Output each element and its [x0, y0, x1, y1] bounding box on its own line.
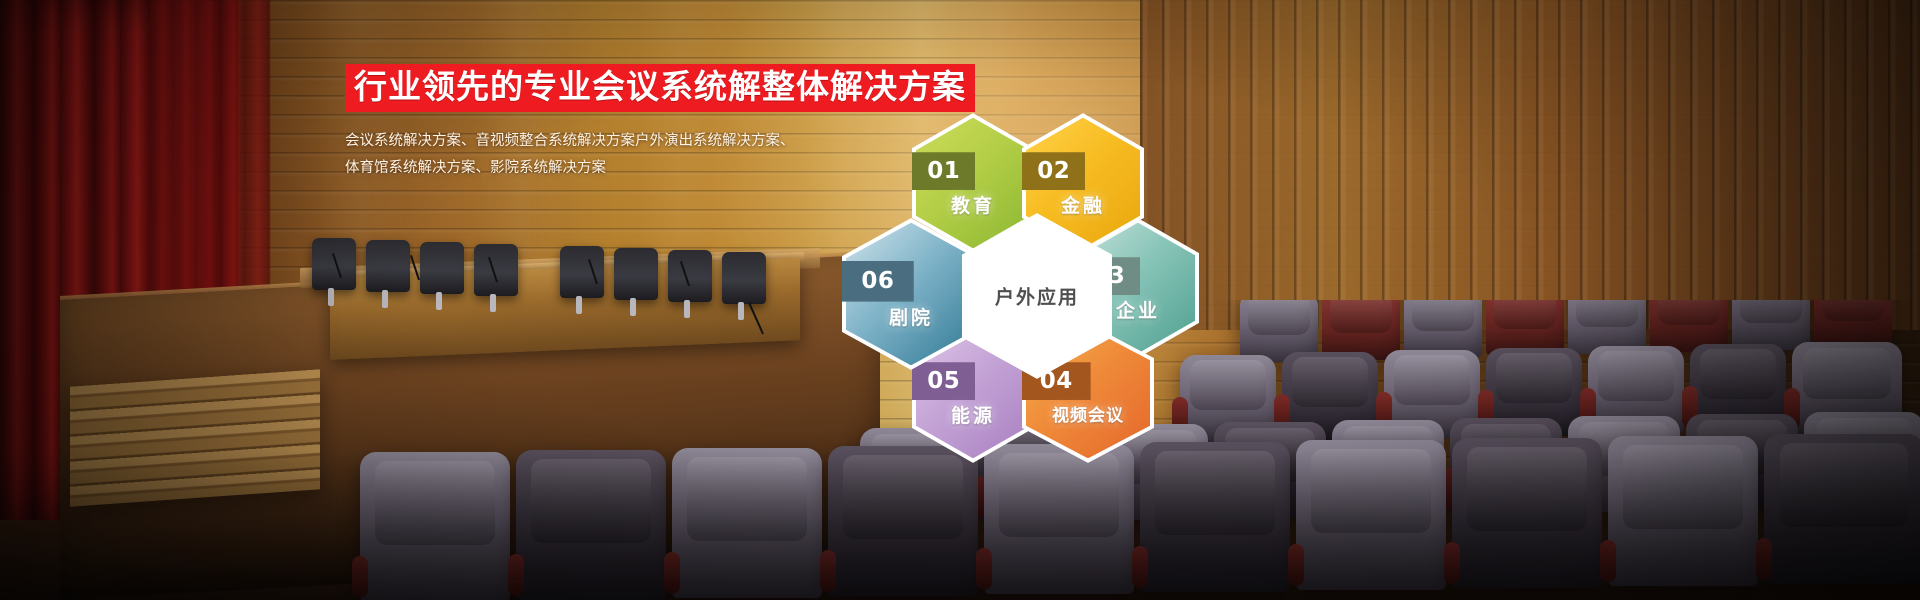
banner-subtitle: 会议系统解决方案、音视频整合系统解决方案户外演出系统解决方案、 体育馆系统解决方…	[345, 128, 845, 182]
hex-number-tab: 05	[912, 362, 975, 400]
stage-chair	[722, 252, 766, 304]
hex-label: 剧院	[842, 303, 980, 330]
seat	[1732, 300, 1810, 350]
hex-label: 金融	[1022, 191, 1144, 218]
hex-number-tab: 01	[912, 152, 975, 190]
seat	[1322, 300, 1400, 360]
hex-cluster: 01 教育 02 金融 03 企业 04 视频会议 05	[820, 95, 1280, 495]
stage-chair	[312, 238, 356, 290]
hex-label: 教育	[912, 191, 1034, 218]
hex-label: 视频会议	[1022, 401, 1154, 426]
subtitle-line-1: 会议系统解决方案、音视频整合系统解决方案户外演出系统解决方案、	[345, 128, 845, 155]
subtitle-line-2: 体育馆系统解决方案、影院系统解决方案	[345, 155, 845, 182]
stage-chair	[420, 242, 464, 294]
stage-chair	[366, 240, 410, 292]
hex-number-tab: 06	[842, 261, 914, 302]
stage-chair	[560, 246, 604, 298]
seat	[1814, 300, 1892, 348]
stage-chair	[614, 248, 658, 300]
hex-label: 户外应用	[962, 283, 1112, 310]
stage-chair	[474, 244, 518, 296]
hex-label: 能源	[912, 401, 1034, 428]
hero-banner: 行业领先的专业会议系统解整体解决方案 会议系统解决方案、音视频整合系统解决方案户…	[0, 0, 1920, 600]
hex-number-tab: 02	[1022, 152, 1085, 190]
stage-chair	[668, 250, 712, 302]
